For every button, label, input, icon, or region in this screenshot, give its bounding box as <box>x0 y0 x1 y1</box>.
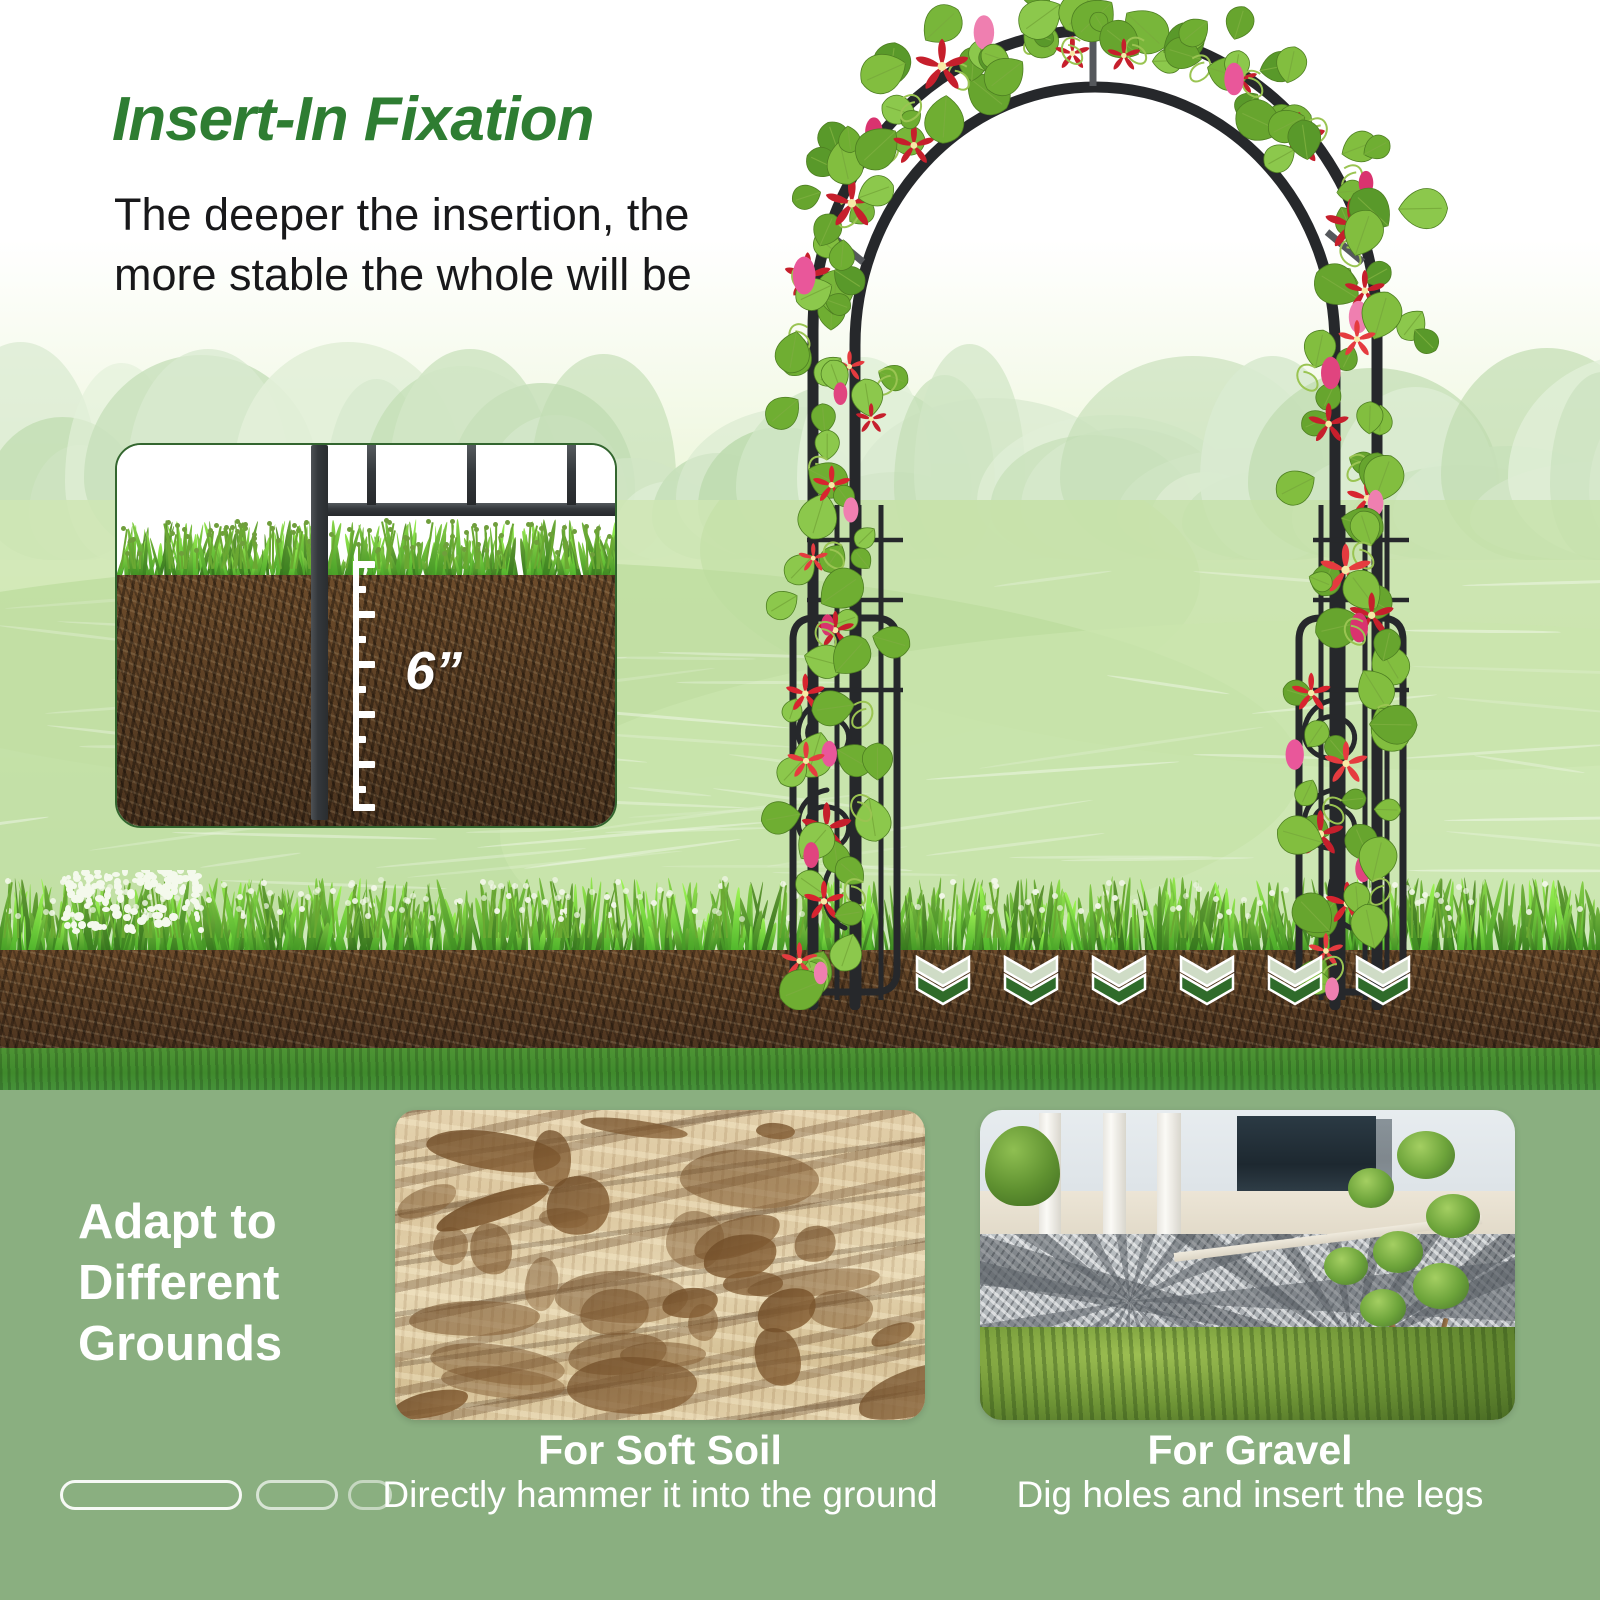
gravel-photo <box>980 1110 1515 1420</box>
chevron-down-icon <box>1179 955 1235 1007</box>
chevron-down-icon <box>1267 955 1323 1007</box>
pager-dot-2[interactable] <box>256 1480 338 1510</box>
garden-arch-trellis <box>735 0 1455 1010</box>
carousel-pager[interactable] <box>60 1480 390 1514</box>
lower-grass-strip <box>0 1048 1600 1090</box>
fence-picket <box>567 445 576 505</box>
sand-photo <box>395 1110 925 1420</box>
pager-dot-1[interactable] <box>60 1480 242 1510</box>
fence-picket <box>367 445 376 505</box>
chevron-down-icon <box>1091 955 1147 1007</box>
gravel-caption: For Gravel Dig holes and insert the legs <box>960 1428 1540 1516</box>
depth-ruler <box>353 561 379 811</box>
page-subtitle: The deeper the insertion, the more stabl… <box>114 185 774 305</box>
depth-diagram-card: 6” <box>115 443 617 828</box>
fence-picket <box>467 445 476 505</box>
page-title: Insert-In Fixation <box>112 84 593 155</box>
soft-soil-caption: For Soft Soil Directly hammer it into th… <box>360 1428 960 1516</box>
depth-label: 6” <box>405 640 462 702</box>
insert-direction-chevrons <box>0 955 1600 1015</box>
soft-soil-desc: Directly hammer it into the ground <box>360 1474 960 1516</box>
adapt-heading: Adapt to Different Grounds <box>78 1192 378 1374</box>
chevron-down-icon <box>915 955 971 1007</box>
soft-soil-title: For Soft Soil <box>360 1428 960 1474</box>
inserted-post <box>311 445 328 820</box>
chevron-down-icon <box>1355 955 1411 1007</box>
chevron-down-icon <box>1003 955 1059 1007</box>
gravel-desc: Dig holes and insert the legs <box>960 1474 1540 1516</box>
gravel-title: For Gravel <box>960 1428 1540 1474</box>
product-infographic: Insert-In Fixation The deeper the insert… <box>0 0 1600 1600</box>
